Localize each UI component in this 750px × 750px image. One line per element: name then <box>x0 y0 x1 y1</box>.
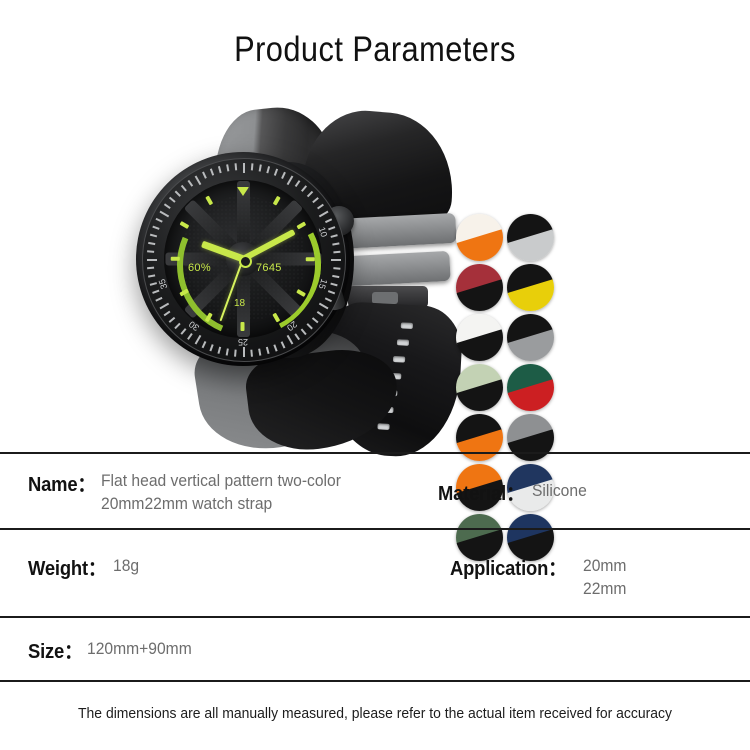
color-swatch-darkred-black[interactable] <box>456 264 503 311</box>
hour-marker <box>241 322 245 331</box>
hand-cap <box>239 255 252 268</box>
spec-row-size: Size： 120mm+90mm <box>0 618 750 680</box>
spec-row-weight-application: Weight： 18g Application： 20mm 22mm <box>0 530 750 616</box>
hour-marker <box>171 257 180 261</box>
footer-note: The dimensions are all manually measured… <box>26 705 724 722</box>
swatch-row <box>456 214 560 261</box>
color-swatch-white-black[interactable] <box>456 314 503 361</box>
hour-marker <box>237 187 249 196</box>
spec-cell-weight: Weight： 18g <box>28 552 438 581</box>
application-values: 20mm 22mm <box>583 554 626 600</box>
spec-cell-size: Size： 120mm+90mm <box>28 635 750 664</box>
color-swatch-green-red[interactable] <box>507 364 554 411</box>
bezel-numeral: 25 <box>238 337 248 347</box>
swatch-row <box>456 314 560 361</box>
spec-cell-application: Application： 20mm 22mm <box>438 552 750 600</box>
strap-adjustment-hole <box>377 423 389 430</box>
steps-readout: 7645 <box>256 262 282 274</box>
color-swatch-black-yellow[interactable] <box>507 264 554 311</box>
color-swatch-black-gray[interactable] <box>507 314 554 361</box>
color-swatch-black-silver[interactable] <box>507 214 554 261</box>
strap-adjustment-hole <box>397 339 409 346</box>
strap-adjustment-hole <box>393 356 405 363</box>
specification-table: Name： Flat head vertical pattern two-col… <box>0 452 750 682</box>
size-label: Size： <box>28 635 82 664</box>
product-photo-area: 101520253035 60% 7645 18 <box>0 100 750 448</box>
application-value-20mm: 20mm <box>583 556 626 575</box>
date-readout: 18 <box>234 298 245 309</box>
hour-marker <box>180 221 190 229</box>
battery-readout: 60% <box>188 262 211 274</box>
weight-label: Weight： <box>28 552 106 581</box>
page-title: Product Parameters <box>45 28 705 72</box>
name-label: Name： <box>28 468 96 497</box>
material-label: Material： <box>438 477 524 506</box>
spec-row-name-material: Name： Flat head vertical pattern two-col… <box>0 454 750 528</box>
table-divider <box>0 680 750 682</box>
hour-marker <box>205 196 213 206</box>
material-value: Silicone <box>532 479 587 502</box>
spec-cell-material: Material： Silicone <box>438 477 750 506</box>
weight-value: 18g <box>113 554 139 577</box>
application-label: Application： <box>450 552 566 581</box>
application-value-22mm: 22mm <box>583 579 626 598</box>
color-swatch-orange-white[interactable] <box>456 214 503 261</box>
color-swatch-sage-black[interactable] <box>456 364 503 411</box>
smartwatch-product-image: 101520253035 60% 7645 18 <box>128 108 458 438</box>
hour-marker <box>306 257 315 261</box>
strap-adjustment-hole <box>401 322 413 329</box>
name-value: Flat head vertical pattern two-color 20m… <box>101 469 368 515</box>
swatch-row <box>456 264 560 311</box>
watch-dial: 60% 7645 18 <box>164 180 322 338</box>
swatch-row <box>456 364 560 411</box>
spec-cell-name: Name： Flat head vertical pattern two-col… <box>28 468 438 515</box>
size-value: 120mm+90mm <box>87 637 192 660</box>
